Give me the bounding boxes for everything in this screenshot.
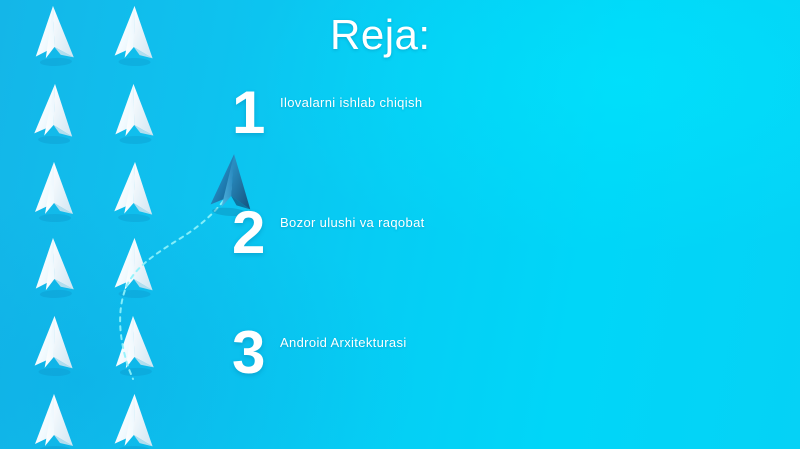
agenda-item-label: Ilovalarni ishlab chiqish [280, 95, 422, 112]
slide-content: Reja: 1 Ilovalarni ishlab chiqish 2 Bozo… [0, 0, 800, 449]
agenda-item-3[interactable]: 3 Android Arxitekturasi [232, 324, 772, 402]
agenda-item-2[interactable]: 2 Bozor ulushi va raqobat [232, 204, 772, 282]
agenda-item-number: 3 [232, 324, 278, 381]
agenda-item-number: 2 [232, 204, 278, 261]
agenda-item-label: Android Arxitekturasi [280, 335, 407, 352]
agenda-item-number: 1 [232, 84, 278, 141]
page-title: Reja: [330, 11, 431, 59]
presentation-slide: Reja: 1 Ilovalarni ishlab chiqish 2 Bozo… [0, 0, 800, 449]
agenda-item-label: Bozor ulushi va raqobat [280, 215, 425, 232]
agenda-item-1[interactable]: 1 Ilovalarni ishlab chiqish [232, 84, 772, 162]
